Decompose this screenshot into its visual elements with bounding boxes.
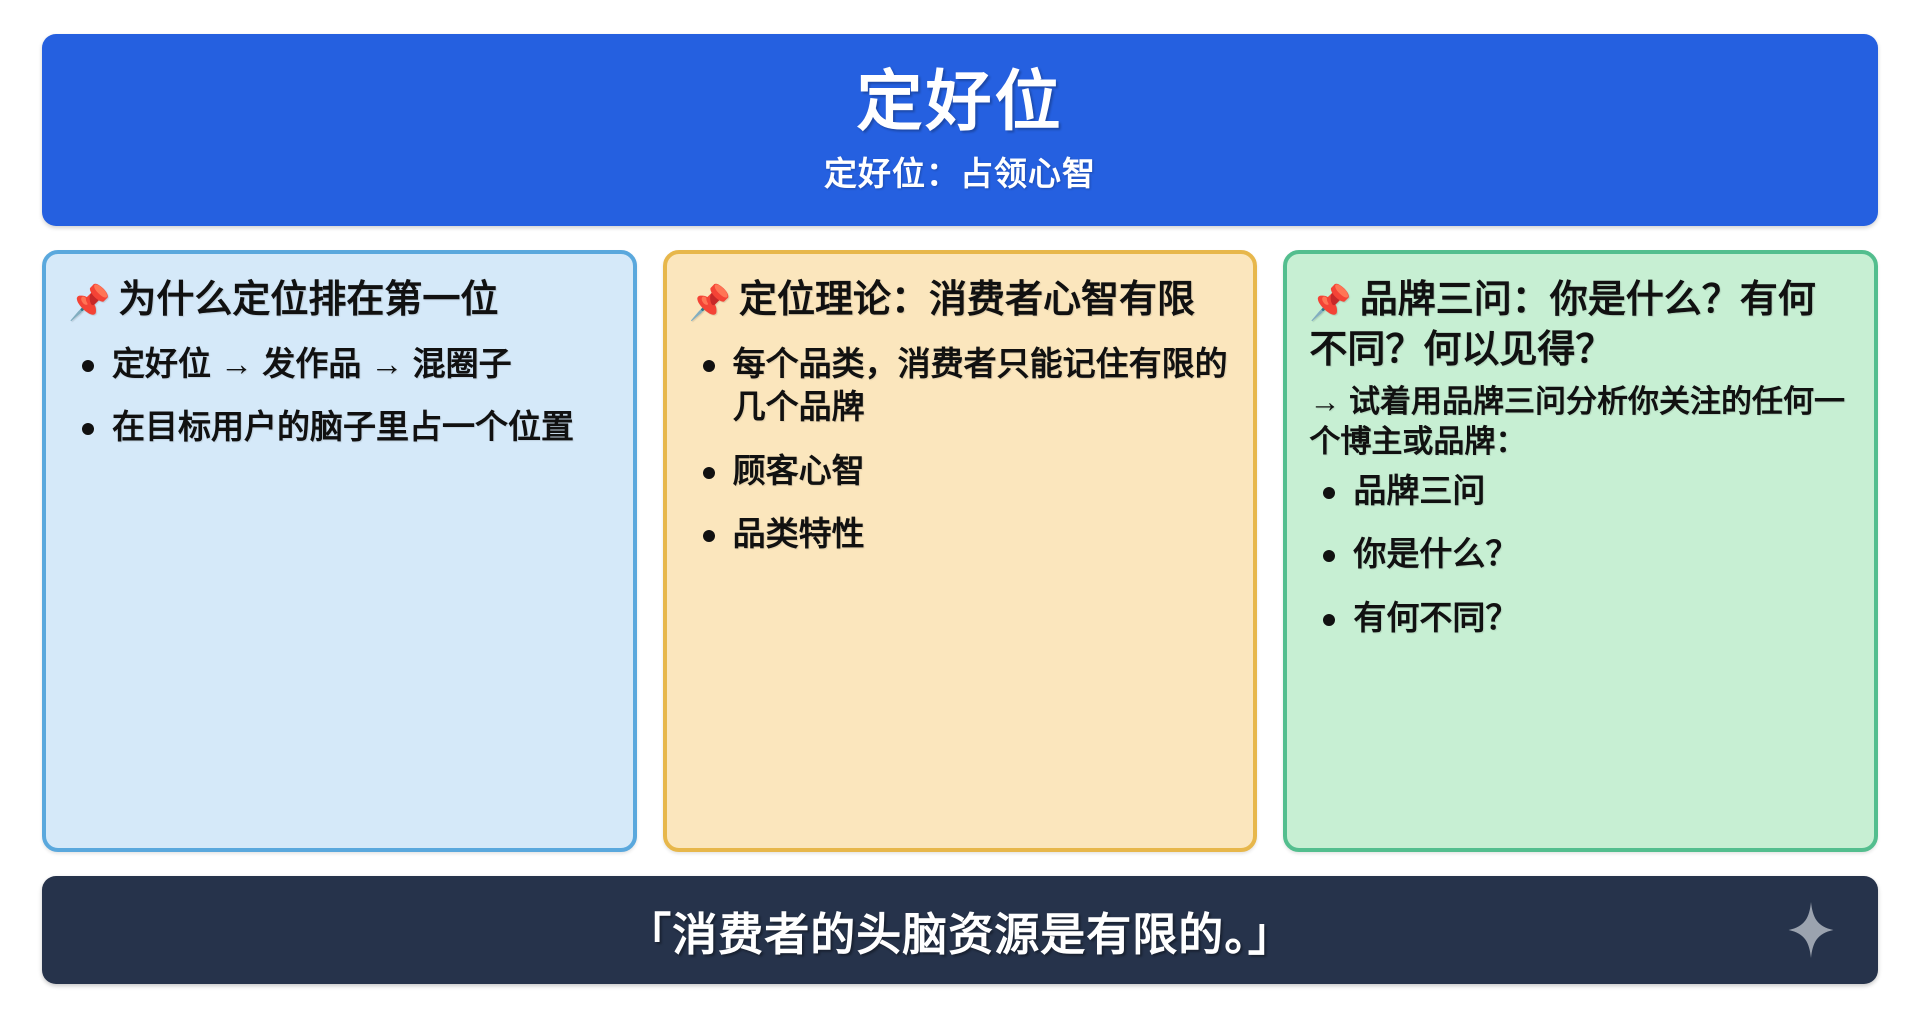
- card-title-text: 品牌三问：你是什么？有何不同？何以见得？: [1309, 279, 1815, 371]
- list-item: 在目标用户的脑子里占一个位置: [68, 405, 609, 449]
- card-why-positioning-first[interactable]: 📌为什么定位排在第一位 定好位 → 发作品 → 混圈子 在目标用户的脑子里占一个…: [42, 250, 637, 852]
- slide-root: 定好位 定好位：占领心智 📌为什么定位排在第一位 定好位 → 发作品 → 混圈子…: [0, 0, 1920, 1014]
- card-title: 📌品牌三问：你是什么？有何不同？何以见得？: [1309, 276, 1850, 374]
- list-item: 有何不同？: [1309, 596, 1850, 640]
- card-title: 📌定位理论：消费者心智有限: [689, 276, 1230, 326]
- card-bullet-list: 品牌三问 你是什么？ 有何不同？: [1309, 469, 1850, 640]
- list-item: 品牌三问: [1309, 469, 1850, 513]
- page-subtitle: 定好位：占领心智: [824, 147, 1096, 195]
- pushpin-icon: 📌: [689, 282, 731, 326]
- card-brand-three-questions[interactable]: 📌品牌三问：你是什么？有何不同？何以见得？ → 试着用品牌三问分析你关注的任何一…: [1283, 250, 1878, 852]
- list-item: 顾客心智: [689, 449, 1230, 493]
- list-item: 每个品类，消费者只能记住有限的几个品牌: [689, 342, 1230, 429]
- card-note: → 试着用品牌三问分析你关注的任何一个博主或品牌：: [1309, 382, 1850, 463]
- list-item: 你是什么？: [1309, 532, 1850, 576]
- page-title: 定好位: [857, 65, 1064, 139]
- card-title-text: 定位理论：消费者心智有限: [739, 279, 1195, 321]
- sparkle-icon: [1788, 902, 1834, 958]
- slide-footer: 「消费者的头脑资源是有限的。」: [42, 876, 1878, 984]
- card-bullet-list: 每个品类，消费者只能记住有限的几个品牌 顾客心智 品类特性: [689, 342, 1230, 556]
- slide-header: 定好位 定好位：占领心智: [42, 34, 1878, 226]
- card-title: 📌为什么定位排在第一位: [68, 276, 609, 326]
- footer-quote: 「消费者的头脑资源是有限的。」: [626, 898, 1294, 963]
- card-positioning-theory[interactable]: 📌定位理论：消费者心智有限 每个品类，消费者只能记住有限的几个品牌 顾客心智 品…: [663, 250, 1258, 852]
- pushpin-icon: 📌: [68, 282, 110, 326]
- list-item: 品类特性: [689, 512, 1230, 556]
- card-bullet-list: 定好位 → 发作品 → 混圈子 在目标用户的脑子里占一个位置: [68, 342, 609, 449]
- card-title-text: 为什么定位排在第一位: [118, 279, 498, 321]
- pushpin-icon: 📌: [1309, 282, 1351, 326]
- list-item: 定好位 → 发作品 → 混圈子: [68, 342, 609, 386]
- card-row: 📌为什么定位排在第一位 定好位 → 发作品 → 混圈子 在目标用户的脑子里占一个…: [42, 250, 1878, 852]
